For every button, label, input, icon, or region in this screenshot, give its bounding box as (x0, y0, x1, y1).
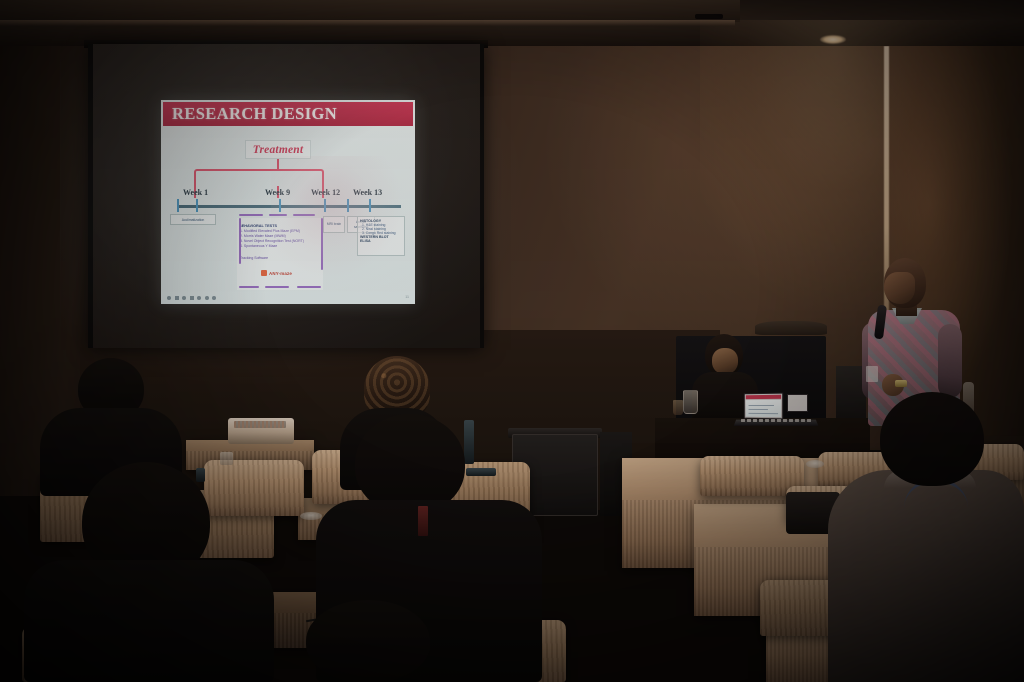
equipment-case-lid (755, 321, 827, 335)
elisa-label: ELISA (360, 239, 402, 243)
attendee-center-lanyard (418, 506, 428, 536)
behavioral-tests-block: BEHAVIORAL TESTS 1. Modified Elevated Pl… (237, 218, 323, 290)
eraser-icon[interactable] (190, 296, 194, 300)
presenter-face (884, 272, 915, 304)
anymaze-logo: ANY-maze (261, 270, 292, 276)
slide-body: Treatment Week 1 Week 9 Week 12 Week 13 (161, 126, 415, 304)
axis-tick-mid (347, 199, 349, 212)
saucer-1 (300, 512, 322, 520)
anymaze-mark-icon (261, 270, 267, 276)
attendee-left-front-torso (24, 560, 274, 682)
wristwatch-icon (895, 380, 907, 387)
presenter-right-arm (938, 324, 962, 398)
timeline-axis (177, 205, 401, 208)
week-label-2: Week 9 (265, 188, 290, 197)
week-label-3: Week 12 (311, 188, 340, 197)
laptop-line-2 (749, 409, 768, 410)
attendee-right-head (880, 392, 984, 486)
more-icon[interactable] (212, 296, 216, 300)
gantt-bar-5 (265, 286, 289, 288)
projector-vent-grille (234, 421, 286, 428)
gantt-bar-2 (269, 214, 287, 216)
water-pitcher (683, 390, 698, 414)
treatment-bracket (194, 169, 324, 187)
presentation-room-photo: RESEARCH DESIGN Treatment Week 1 Week 9 … (0, 0, 1024, 682)
histology-box: HISTOLOGY 1. H&E staining 2. Nissl stain… (357, 216, 405, 256)
treatment-box: Treatment (245, 140, 311, 159)
phone[interactable] (196, 468, 205, 482)
axis-tick-start (177, 199, 179, 212)
mri-brain-box: MRI brain (323, 216, 345, 233)
laptop-slide-banner (746, 395, 781, 399)
gantt-bar-3 (293, 214, 315, 216)
pen-icon[interactable] (175, 296, 179, 300)
saucer-3 (806, 460, 824, 468)
bottle-small (464, 420, 474, 464)
acclimatization-box: Acclimatization (170, 214, 216, 225)
slide-title: RESEARCH DESIGN (172, 104, 337, 124)
pointer-icon[interactable] (167, 296, 171, 300)
anymaze-label: ANY-maze (269, 271, 292, 276)
week-label-1: Week 1 (183, 188, 208, 197)
zoom-icon[interactable] (205, 296, 209, 300)
laptop-slide-body (746, 400, 781, 417)
behavioral-tests-heading: BEHAVIORAL TESTS (239, 224, 323, 228)
laptop-notes-pane[interactable] (787, 394, 808, 412)
paper-cup (220, 452, 233, 465)
behavioral-item-4: 4. Spontaneous Y Maze (240, 244, 323, 248)
behavioral-item-3: 3. Novel Object Recognition Test (NORT) (240, 239, 323, 243)
axis-tick-week9 (279, 199, 281, 212)
ceiling-vent-icon (695, 14, 723, 19)
axis-tick-week13 (369, 199, 371, 212)
axis-tick-week12 (324, 199, 326, 212)
tracking-software-label: Tracking Software (240, 256, 323, 260)
laptop-keyboard[interactable] (741, 419, 811, 423)
highlighter-icon[interactable] (182, 296, 186, 300)
gantt-vert-left (239, 218, 241, 264)
week-label-4: Week 13 (353, 188, 382, 197)
presentation-toolbar[interactable] (167, 296, 216, 300)
gantt-bar-4 (239, 286, 259, 288)
attendee-bottom-head (306, 600, 430, 682)
behavioral-item-1: 1. Modified Elevated Plus Maze (EPM) (240, 229, 323, 233)
gantt-bar-1 (239, 214, 263, 216)
presenter-name-badge (866, 366, 878, 382)
gantt-bar-6 (297, 286, 321, 288)
axis-tick-week1 (196, 199, 198, 212)
laptop-screen[interactable] (744, 393, 783, 420)
av-operator-face (712, 348, 738, 374)
treatment-label: Treatment (253, 144, 304, 156)
drinking-glass (673, 400, 683, 415)
attendee-center-front-head (355, 414, 465, 514)
slide-page-number: 11 (405, 295, 409, 299)
ceiling-downlight-icon (820, 35, 846, 44)
laptop-line-1 (749, 405, 774, 406)
projected-slide: RESEARCH DESIGN Treatment Week 1 Week 9 … (161, 100, 415, 304)
behavioral-item-2: 2. Morris Water Maze (MWM) (240, 234, 323, 238)
laptop-line-3 (749, 413, 778, 414)
keyboard-small[interactable] (466, 468, 496, 476)
slide-title-banner: RESEARCH DESIGN (163, 102, 413, 126)
ceiling-edge-trim (0, 20, 735, 26)
projection-screen: RESEARCH DESIGN Treatment Week 1 Week 9 … (88, 44, 484, 348)
slides-icon[interactable] (197, 296, 201, 300)
ceiling-soffit (0, 0, 740, 22)
chair-mid-1 (204, 460, 304, 516)
